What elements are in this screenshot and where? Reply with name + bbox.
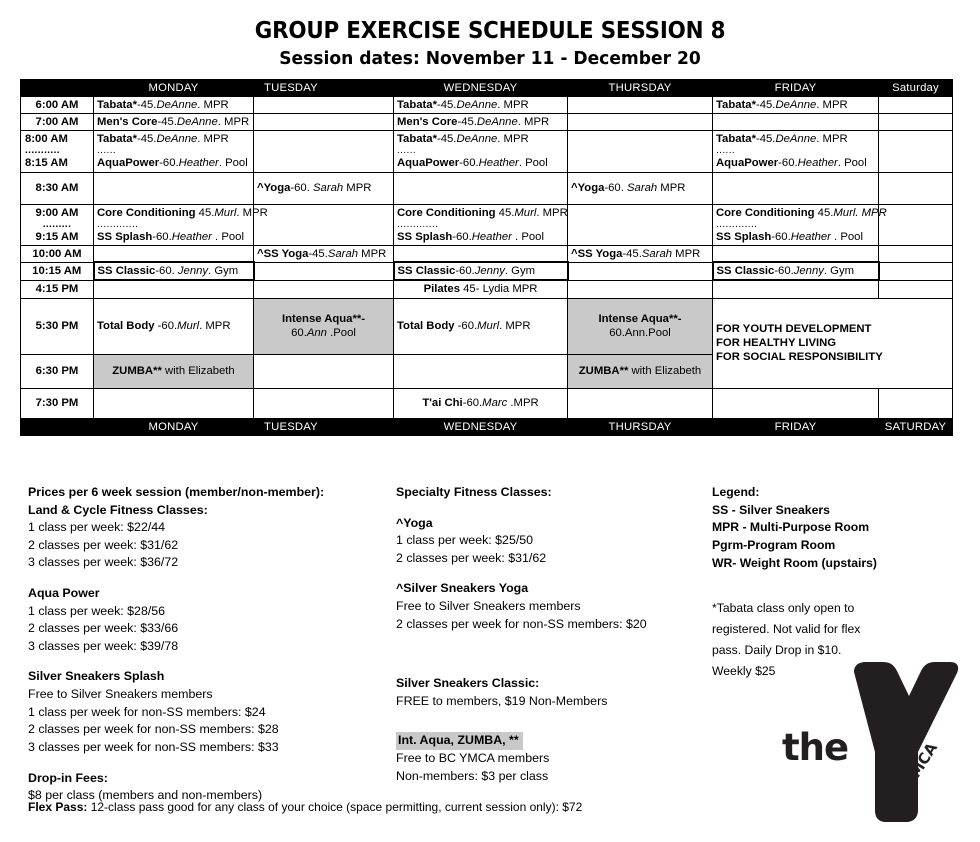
class-sat-1000 [879,245,953,262]
class-name: SS Splash [397,231,452,243]
class-mon-700: Men's Core-45.DeAnne. MPR [94,114,254,131]
class-duration: -60. [290,182,313,194]
land-price-2: 2 classes per week: $31/62 [28,537,388,555]
prices-heading: Prices per 6 week session (member/non-me… [28,484,388,502]
class-room: . Pool [838,157,867,169]
class-details: with Elizabeth [162,365,235,377]
table-row: 8:00 AM ........... 8:15 AM Tabata*-45.D… [21,131,953,172]
cell-separator-dots: ............. [97,220,250,230]
class-room: . MPR [816,133,847,145]
class-thu-415 [568,280,713,298]
legend-item-ss: SS - Silver Sneakers [712,502,912,520]
class-sat-900 [879,204,953,245]
class-sat-600 [879,97,953,114]
class-sat-1015 [879,262,953,280]
class-instructor: Ann [625,327,645,339]
table-row: 7:00 AM Men's Core-45.DeAnne. MPR Men's … [21,114,953,131]
table-row: 5:30 PM Total Body -60.Murl. MPR Intense… [21,298,953,354]
spacer [396,633,701,675]
class-name: Core Conditioning [716,207,815,219]
class-name: Tabata* [716,99,756,111]
class-name: T'ai Chi [422,397,462,409]
time-label: 8:00 AM [25,132,90,146]
class-duration: 45. [196,207,215,219]
class-duration: 45. [815,207,834,219]
ss-classic-heading: Silver Sneakers Classic: [396,675,701,693]
splash-price-2: 2 classes per week for non-SS members: $… [28,721,388,739]
class-name: SS Classic [398,265,456,277]
class-mon-600: Tabata*-45.DeAnne. MPR [94,97,254,114]
footer-corner [21,418,94,435]
class-details: with Elizabeth [628,365,701,377]
flex-pass-text: 12-class pass good for any class of your… [87,800,582,814]
class-wed-600: Tabata*-45.DeAnne. MPR [394,97,568,114]
class-fri-415 [713,280,879,298]
ss-yoga-price-2: 2 classes per week for non-SS members: $… [396,616,701,634]
class-duration: -45. [437,133,456,145]
class-mon-900: Core Conditioning 45.Murl. MPR .........… [94,204,254,245]
land-price-1: 1 class per week: $22/44 [28,519,388,537]
time-label: 7:00 AM [21,114,94,131]
time-label: 5:30 PM [21,298,94,354]
time-label: 9:15 AM [24,230,90,244]
class-duration: -60. [459,157,478,169]
class-tue-1015 [254,262,394,280]
class-instructor: DeAnne [156,133,197,145]
class-fri-1015: SS Classic-60.Jenny. Gym [713,262,879,280]
class-duration: -60. [159,157,178,169]
class-room: . MPR [536,207,567,219]
class-room: . MPR [499,320,530,332]
class-duration: -60. [778,157,797,169]
cell-separator-dots: ...... [716,146,875,156]
class-sat-830 [879,172,953,204]
class-room: . MPR [197,133,228,145]
ymca-logo: the ® YMCA [778,658,963,838]
class-instructor: Heather [172,231,212,243]
time-label: 8:30 AM [21,172,94,204]
class-name: Core Conditioning [397,207,496,219]
class-duration: 45. [496,207,515,219]
time-separator-dots: ......... [24,220,90,230]
page-title: GROUP EXERCISE SCHEDULE SESSION 8 [34,18,945,44]
ymca-slogan-cell: FOR YOUTH DEVELOPMENT FOR HEALTHY LIVING… [713,298,953,388]
class-mon-1015: SS Classic-60. Jenny. Gym [94,262,254,280]
slogan-line-3: FOR SOCIAL RESPONSIBILITY [716,350,949,364]
class-thu-700 [568,114,713,131]
class-room: . Gym [505,265,535,277]
spacer [396,710,701,732]
class-instructor: Jenny [475,265,505,277]
class-wed-415: Pilates 45- Lydia MPR [394,280,568,298]
tabata-note-1: *Tabata class only open to [712,598,912,619]
ss-classic-detail: FREE to members, $19 Non-Members [396,693,701,711]
class-mon-1000 [94,245,254,262]
spacer [712,572,912,598]
class-duration: -45. [437,99,456,111]
class-thu-630: ZUMBA** with Elizabeth [568,354,713,388]
land-price-3: 3 classes per week: $36/72 [28,554,388,572]
cell-separator-dots: ...... [97,146,250,156]
class-thu-900 [568,204,713,245]
day-header-saturday: Saturday [879,80,953,97]
class-instructor: Murl [833,207,855,219]
time-label: 9:00 AM [24,206,90,220]
class-sat-700 [879,114,953,131]
class-name: Pilates [424,283,460,295]
class-duration: -45. [756,99,775,111]
flex-pass-line: Flex Pass: 12-class pass good for any cl… [28,800,728,814]
class-duration: -60. [155,265,178,277]
class-name: Tabata* [716,133,756,145]
day-footer-wednesday: WEDNESDAY [394,418,568,435]
class-room: .Pool [327,327,356,339]
class-fri-900: Core Conditioning 45.Murl. MPR .........… [713,204,879,245]
class-name: SS Splash [97,231,152,243]
tabata-note-2: registered. Not valid for flex [712,619,912,640]
class-wed-830 [394,172,568,204]
yoga-heading: ^Yoga [396,515,701,533]
class-duration: -60. [774,265,793,277]
class-instructor: DeAnne [177,116,218,128]
class-instructor: Heather [479,157,519,169]
class-duration: -45. [137,99,156,111]
day-header-friday: FRIDAY [713,80,879,97]
time-separator-dots: ........... [25,146,90,156]
class-duration: -60. [452,231,471,243]
spacer [28,757,388,770]
class-instructor: DeAnne [456,99,497,111]
class-tue-630 [254,354,394,388]
logo-the-text: the [782,726,848,769]
yoga-price-1: 1 class per week: $25/50 [396,532,701,550]
class-room: . MPR [816,99,847,111]
table-row: 10:00 AM ^SS Yoga-45.Sarah MPR ^SS Yoga-… [21,245,953,262]
class-instructor: Heather [798,157,838,169]
legend-item-mpr: MPR - Multi-Purpose Room [712,519,912,537]
class-name: Total Body [397,320,455,332]
schedule-table: MONDAY TUESDAY WEDNESDAY THURSDAY FRIDAY… [20,79,953,436]
day-footer-saturday: SATURDAY [879,418,953,435]
y-mark-icon: YMCA [850,660,962,835]
class-name: ^SS Yoga [571,248,622,260]
title-block: GROUP EXERCISE SCHEDULE SESSION 8 Sessio… [0,0,980,69]
class-instructor: Murl [177,320,199,332]
class-instructor: Sarah [328,248,358,260]
class-name: Core Conditioning [97,207,196,219]
class-room: . Pool [831,231,863,243]
time-label: 10:00 AM [21,245,94,262]
splash-price-1: 1 class per week for non-SS members: $24 [28,704,388,722]
class-room: . MPR [518,116,549,128]
class-room: .Pool [645,327,671,339]
class-tue-900 [254,204,394,245]
aqua-price-3: 3 classes per week: $39/78 [28,638,388,656]
class-duration: -45. [157,116,176,128]
splash-free: Free to Silver Sneakers members [28,686,388,704]
class-wed-800: Tabata*-45.DeAnne. MPR ...... AquaPower-… [394,131,568,172]
slogan-line-2: FOR HEALTHY LIVING [716,336,949,350]
land-classes-heading: Land & Cycle Fitness Classes: [28,502,388,520]
class-instructor: Sarah [642,248,672,260]
aqua-price-2: 2 classes per week: $33/66 [28,620,388,638]
class-room: . MPR [236,207,267,219]
day-header-monday: MONDAY [94,80,254,97]
class-duration: -45. [457,116,476,128]
day-footer-monday: MONDAY [94,418,254,435]
legend-heading: Legend: [712,484,912,502]
class-instructor: Sarah [627,182,657,194]
cell-separator-dots: ............. [716,220,875,230]
class-room: . MPR [497,99,528,111]
class-fri-800: Tabata*-45.DeAnne. MPR ...... AquaPower-… [713,131,879,172]
class-instructor: Jenny [178,265,208,277]
day-header-wednesday: WEDNESDAY [394,80,568,97]
class-tue-830: ^Yoga-60. Sarah MPR [254,172,394,204]
class-duration: -60. [155,320,178,332]
class-room: MPR [672,248,700,260]
class-name: ^Yoga [257,182,290,194]
legend-column: Legend: SS - Silver Sneakers MPR - Multi… [712,484,912,682]
class-instructor: DeAnne [456,133,497,145]
class-instructor: DeAnne [477,116,518,128]
class-wed-730: T'ai Chi-60.Marc .MPR [394,388,568,418]
class-thu-730 [568,388,713,418]
class-duration: 60. [291,327,307,339]
day-footer-thursday: THURSDAY [568,418,713,435]
class-instructor: Heather [472,231,512,243]
class-tue-415 [254,280,394,298]
class-name: Total Body [97,320,155,332]
class-thu-800 [568,131,713,172]
class-room: . Pool [519,157,548,169]
class-room: . MPR [199,320,230,332]
class-thu-530: Intense Aqua**- 60.Ann.Pool [568,298,713,354]
class-thu-830: ^Yoga-60. Sarah MPR [568,172,713,204]
class-name: Tabata* [97,99,137,111]
time-label: 6:30 PM [21,354,94,388]
table-header-row-top: MONDAY TUESDAY WEDNESDAY THURSDAY FRIDAY… [21,80,953,97]
class-duration: -45. [308,248,327,260]
day-header-tuesday: TUESDAY [254,80,394,97]
spacer [396,502,701,515]
cell-separator-dots: ............. [397,220,564,230]
class-name: Men's Core [97,116,157,128]
splash-heading: Silver Sneakers Splash [28,668,388,686]
class-mon-800: Tabata*-45.DeAnne. MPR ...... AquaPower-… [94,131,254,172]
schedule-table-wrap: MONDAY TUESDAY WEDNESDAY THURSDAY FRIDAY… [20,79,952,436]
time-label: 4:15 PM [21,280,94,298]
class-duration: -60. [455,265,474,277]
class-mon-415 [94,280,254,298]
class-name: ^Yoga [571,182,604,194]
class-name: AquaPower [97,157,159,169]
class-mon-830 [94,172,254,204]
class-instructor: Heather [179,157,219,169]
time-label-group: 9:00 AM ......... 9:15 AM [21,204,94,245]
class-name: Men's Core [397,116,457,128]
class-wed-900: Core Conditioning 45.Murl. MPR .........… [394,204,568,245]
class-instructor: Murl [214,207,236,219]
class-duration: -60. [463,397,482,409]
class-fri-600: Tabata*-45.DeAnne. MPR [713,97,879,114]
class-wed-1015: SS Classic-60.Jenny. Gym [394,262,568,280]
class-wed-630 [394,354,568,388]
class-room: . MPR [855,207,886,219]
int-aqua-heading-wrap: Int. Aqua, ZUMBA, ** [396,732,701,750]
class-duration: -45. [622,248,641,260]
class-tue-530: Intense Aqua**- 60.Ann .Pool [254,298,394,354]
class-duration: 60. [609,327,625,339]
class-instructor: Jenny [794,265,824,277]
class-name: SS Splash [716,231,771,243]
class-name: AquaPower [397,157,459,169]
table-row: 10:15 AM SS Classic-60. Jenny. Gym SS Cl… [21,262,953,280]
legend-block: Legend: SS - Silver Sneakers MPR - Multi… [712,484,912,572]
class-duration: -45. [756,133,775,145]
class-room: . Gym [824,265,854,277]
class-name: Intense Aqua**- [571,312,709,326]
session-dates: Session dates: November 11 - December 20 [25,48,956,69]
spacer [28,572,388,585]
class-thu-1015 [568,262,713,280]
aqua-power-heading: Aqua Power [28,585,388,603]
class-room: . Pool [512,231,544,243]
class-fri-830 [713,172,879,204]
slogan-line-1: FOR YOUTH DEVELOPMENT [716,322,949,336]
class-instructor: Heather [791,231,831,243]
int-aqua-free: Free to BC YMCA members [396,750,701,768]
ss-yoga-heading: ^Silver Sneakers Yoga [396,580,701,598]
class-mon-530: Total Body -60.Murl. MPR [94,298,254,354]
splash-price-3: 3 classes per week for non-SS members: $… [28,739,388,757]
table-row: 6:00 AM Tabata*-45.DeAnne. MPR Tabata*-4… [21,97,953,114]
class-instructor: DeAnne [775,99,816,111]
class-instructor: DeAnne [156,99,197,111]
table-header-row-bottom: MONDAY TUESDAY WEDNESDAY THURSDAY FRIDAY… [21,418,953,435]
class-name: SS Classic [98,265,156,277]
table-row: 8:30 AM ^Yoga-60. Sarah MPR ^Yoga-60. Sa… [21,172,953,204]
class-fri-730 [713,388,879,418]
class-room: .MPR [507,397,538,409]
class-instructor: Marc [482,397,507,409]
class-tue-1000: ^SS Yoga-45.Sarah MPR [254,245,394,262]
class-tue-700 [254,114,394,131]
class-duration: -60. [152,231,171,243]
dropin-heading: Drop-in Fees: [28,770,388,788]
class-room: MPR [358,248,386,260]
class-name: ^SS Yoga [257,248,308,260]
class-duration: -60. [604,182,627,194]
time-label: 7:30 PM [21,388,94,418]
class-instructor: Ann [307,327,327,339]
class-mon-630: ZUMBA** with Elizabeth [94,354,254,388]
class-wed-700: Men's Core-45.DeAnne. MPR [394,114,568,131]
class-duration: -60. [455,320,478,332]
time-label: 6:00 AM [21,97,94,114]
ss-yoga-free: Free to Silver Sneakers members [396,598,701,616]
class-room: . MPR [197,99,228,111]
class-sat-415 [879,280,953,298]
class-sat-730 [879,388,953,418]
class-name: Intense Aqua**- [257,312,390,326]
class-room: MPR [343,182,371,194]
day-header-thursday: THURSDAY [568,80,713,97]
spacer [396,567,701,580]
class-instructor: DeAnne [775,133,816,145]
class-details: 45- Lydia MPR [460,283,537,295]
day-footer-friday: FRIDAY [713,418,879,435]
class-instructor: Murl [477,320,499,332]
class-name: ZUMBA** [112,365,162,377]
class-mon-730 [94,388,254,418]
table-row: 4:15 PM Pilates 45- Lydia MPR [21,280,953,298]
header-corner [21,80,94,97]
class-thu-1000: ^SS Yoga-45.Sarah MPR [568,245,713,262]
specialty-heading: Specialty Fitness Classes: [396,484,701,502]
class-room: . Pool [212,231,244,243]
class-wed-1000 [394,245,568,262]
table-row: 9:00 AM ......... 9:15 AM Core Condition… [21,204,953,245]
table-row: 7:30 PM T'ai Chi-60.Marc .MPR [21,388,953,418]
class-tue-730 [254,388,394,418]
class-instructor: Sarah [313,182,343,194]
class-name: ZUMBA** [579,365,629,377]
class-fri-700 [713,114,879,131]
spacer [28,655,388,668]
int-aqua-nonmember: Non-members: $3 per class [396,768,701,786]
time-label-group: 8:00 AM ........... 8:15 AM [21,131,94,172]
time-label: 8:15 AM [25,156,90,170]
class-room: . Pool [219,157,248,169]
class-room: MPR [657,182,685,194]
class-tue-600 [254,97,394,114]
class-name: AquaPower [716,157,778,169]
int-aqua-heading: Int. Aqua, ZUMBA, ** [396,732,523,750]
schedule-page: GROUP EXERCISE SCHEDULE SESSION 8 Sessio… [0,0,980,842]
class-name: Tabata* [397,133,437,145]
class-duration: -45. [137,133,156,145]
legend-item-wr: WR- Weight Room (upstairs) [712,555,912,573]
class-instructor: Murl [514,207,536,219]
class-name: SS Classic [717,265,775,277]
class-fri-1000 [713,245,879,262]
class-sat-800 [879,131,953,172]
class-name: Tabata* [397,99,437,111]
class-thu-600 [568,97,713,114]
class-name: Tabata* [97,133,137,145]
aqua-price-1: 1 class per week: $28/56 [28,603,388,621]
specialty-column: Specialty Fitness Classes: ^Yoga 1 class… [396,484,701,785]
pricing-column: Prices per 6 week session (member/non-me… [28,484,388,805]
legend-item-pgrm: Pgrm-Program Room [712,537,912,555]
flex-pass-label: Flex Pass: [28,800,87,814]
day-footer-tuesday: TUESDAY [254,418,394,435]
time-label: 10:15 AM [21,262,94,280]
class-tue-800 [254,131,394,172]
yoga-price-2: 2 classes per week: $31/62 [396,550,701,568]
class-room: . MPR [497,133,528,145]
class-wed-530: Total Body -60.Murl. MPR [394,298,568,354]
cell-separator-dots: ...... [397,146,564,156]
class-room: . Gym [208,265,238,277]
class-duration: -60. [771,231,790,243]
class-room: . MPR [218,116,249,128]
